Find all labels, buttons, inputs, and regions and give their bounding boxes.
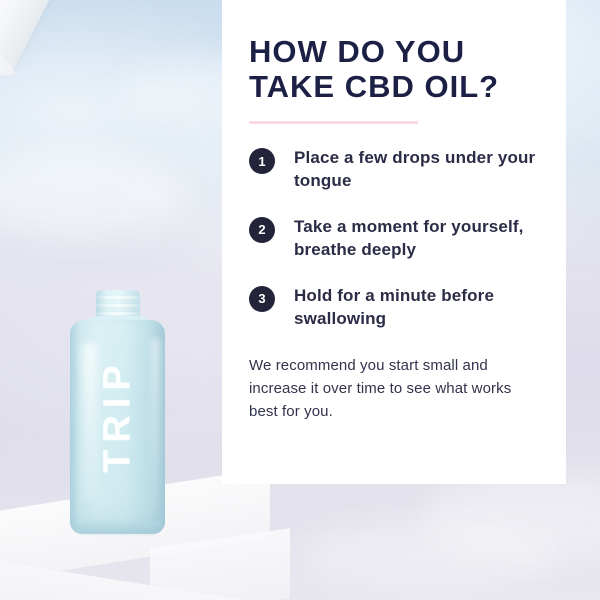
promo-graphic: TRIP HOW DO YOU TAKE CBD OIL? 1 Place a … — [0, 0, 600, 600]
list-item: 2 Take a moment for yourself, breathe de… — [249, 215, 536, 262]
bottle-edge-highlight — [151, 338, 160, 513]
bottle-base — [72, 522, 163, 534]
step-number-badge: 1 — [249, 148, 275, 174]
bottle-thread — [96, 312, 140, 315]
list-item: 1 Place a few drops under your tongue — [249, 146, 536, 193]
brand-logo-trip: TRIP — [96, 358, 139, 473]
list-item: 3 Hold for a minute before swallowing — [249, 284, 536, 331]
content-card: HOW DO YOU TAKE CBD OIL? 1 Place a few d… — [222, 0, 566, 484]
step-number-badge: 2 — [249, 217, 275, 243]
bottle-thread — [96, 304, 140, 307]
recommendation-note: We recommend you start small and increas… — [249, 355, 536, 424]
step-text: Place a few drops under your tongue — [294, 146, 536, 193]
title-divider — [249, 121, 418, 124]
bottle-highlight — [82, 342, 97, 502]
steps-list: 1 Place a few drops under your tongue 2 … — [249, 146, 536, 331]
cbd-oil-bottle: TRIP — [70, 282, 165, 534]
bottle-thread — [96, 296, 140, 299]
step-number-badge: 3 — [249, 286, 275, 312]
page-title: HOW DO YOU TAKE CBD OIL? — [249, 34, 536, 104]
step-text: Hold for a minute before swallowing — [294, 284, 536, 331]
step-text: Take a moment for yourself, breathe deep… — [294, 215, 536, 262]
